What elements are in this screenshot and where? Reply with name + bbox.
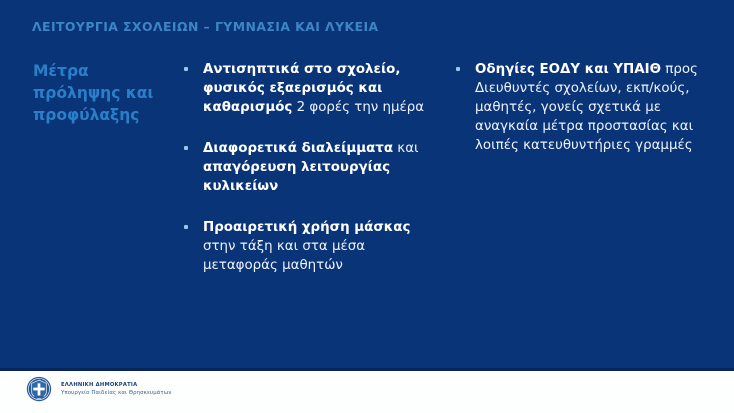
list-item-bold-text: Προαιρετική χρήση μάσκας: [203, 220, 410, 235]
footer-text-block: ΕΛΛΗΝΙΚΗ ΔΗΜΟΚΡΑΤΙΑ Υπουργείο Παιδείας κ…: [61, 382, 171, 396]
list-item-bold-text: Οδηγίες ΕΟΔΥ και ΥΠΑΙΘ: [475, 62, 661, 77]
footer-ministry-name: Υπουργείο Παιδείας και Θρησκευμάτων: [61, 390, 171, 396]
list-item: Αντισηπτικά στο σχολείο, φυσικός εξαερισ…: [180, 60, 442, 117]
list-item-bold-text-2: απαγόρευση λειτουργίας κυλικείων: [203, 160, 390, 194]
slide-footer: ΕΛΛΗΝΙΚΗ ΔΗΜΟΚΡΑΤΙΑ Υπουργείο Παιδείας κ…: [0, 371, 734, 413]
slide-title: ΛΕΙΤΟΥΡΓΙΑ ΣΧΟΛΕΙΩΝ – ΓΥΜΝΑΣΙΑ ΚΑΙ ΛΥΚΕΙ…: [32, 20, 672, 35]
list-item: Διαφορετικά διαλείμματα και απαγόρευση λ…: [180, 139, 442, 196]
slide-section-heading: Μέτρα πρόληψης και προφύλαξης: [33, 60, 173, 126]
presentation-slide: ΛΕΙΤΟΥΡΓΙΑ ΣΧΟΛΕΙΩΝ – ΓΥΜΝΑΣΙΑ ΚΑΙ ΛΥΚΕΙ…: [0, 0, 734, 413]
footer-organization-name: ΕΛΛΗΝΙΚΗ ΔΗΜΟΚΡΑΤΙΑ: [61, 382, 171, 388]
list-item-regular-text: 2 φορές την ημέρα: [292, 100, 424, 115]
greek-republic-emblem-icon: [26, 376, 52, 402]
bullet-point-icon: [184, 146, 188, 150]
bullet-point-icon: [184, 225, 188, 229]
list-item-regular-text: και: [393, 141, 419, 156]
list-item-bold-text: Διαφορετικά διαλείμματα: [203, 141, 393, 156]
list-item: Προαιρετική χρήση μάσκας στην τάξη και σ…: [180, 218, 442, 275]
bullet-point-icon: [184, 67, 188, 71]
list-item: Οδηγίες ΕΟΔΥ και ΥΠΑΙΘ προς Διευθυντές σ…: [452, 60, 700, 155]
bullet-column-right: Οδηγίες ΕΟΔΥ και ΥΠΑΙΘ προς Διευθυντές σ…: [452, 60, 700, 155]
bullet-point-icon: [456, 67, 460, 71]
list-item-regular-text: στην τάξη και στα μέσα μεταφοράς μαθητών: [203, 239, 365, 273]
bullet-column-middle: Αντισηπτικά στο σχολείο, φυσικός εξαερισ…: [180, 60, 442, 275]
footer-branding: ΕΛΛΗΝΙΚΗ ΔΗΜΟΚΡΑΤΙΑ Υπουργείο Παιδείας κ…: [26, 376, 171, 402]
